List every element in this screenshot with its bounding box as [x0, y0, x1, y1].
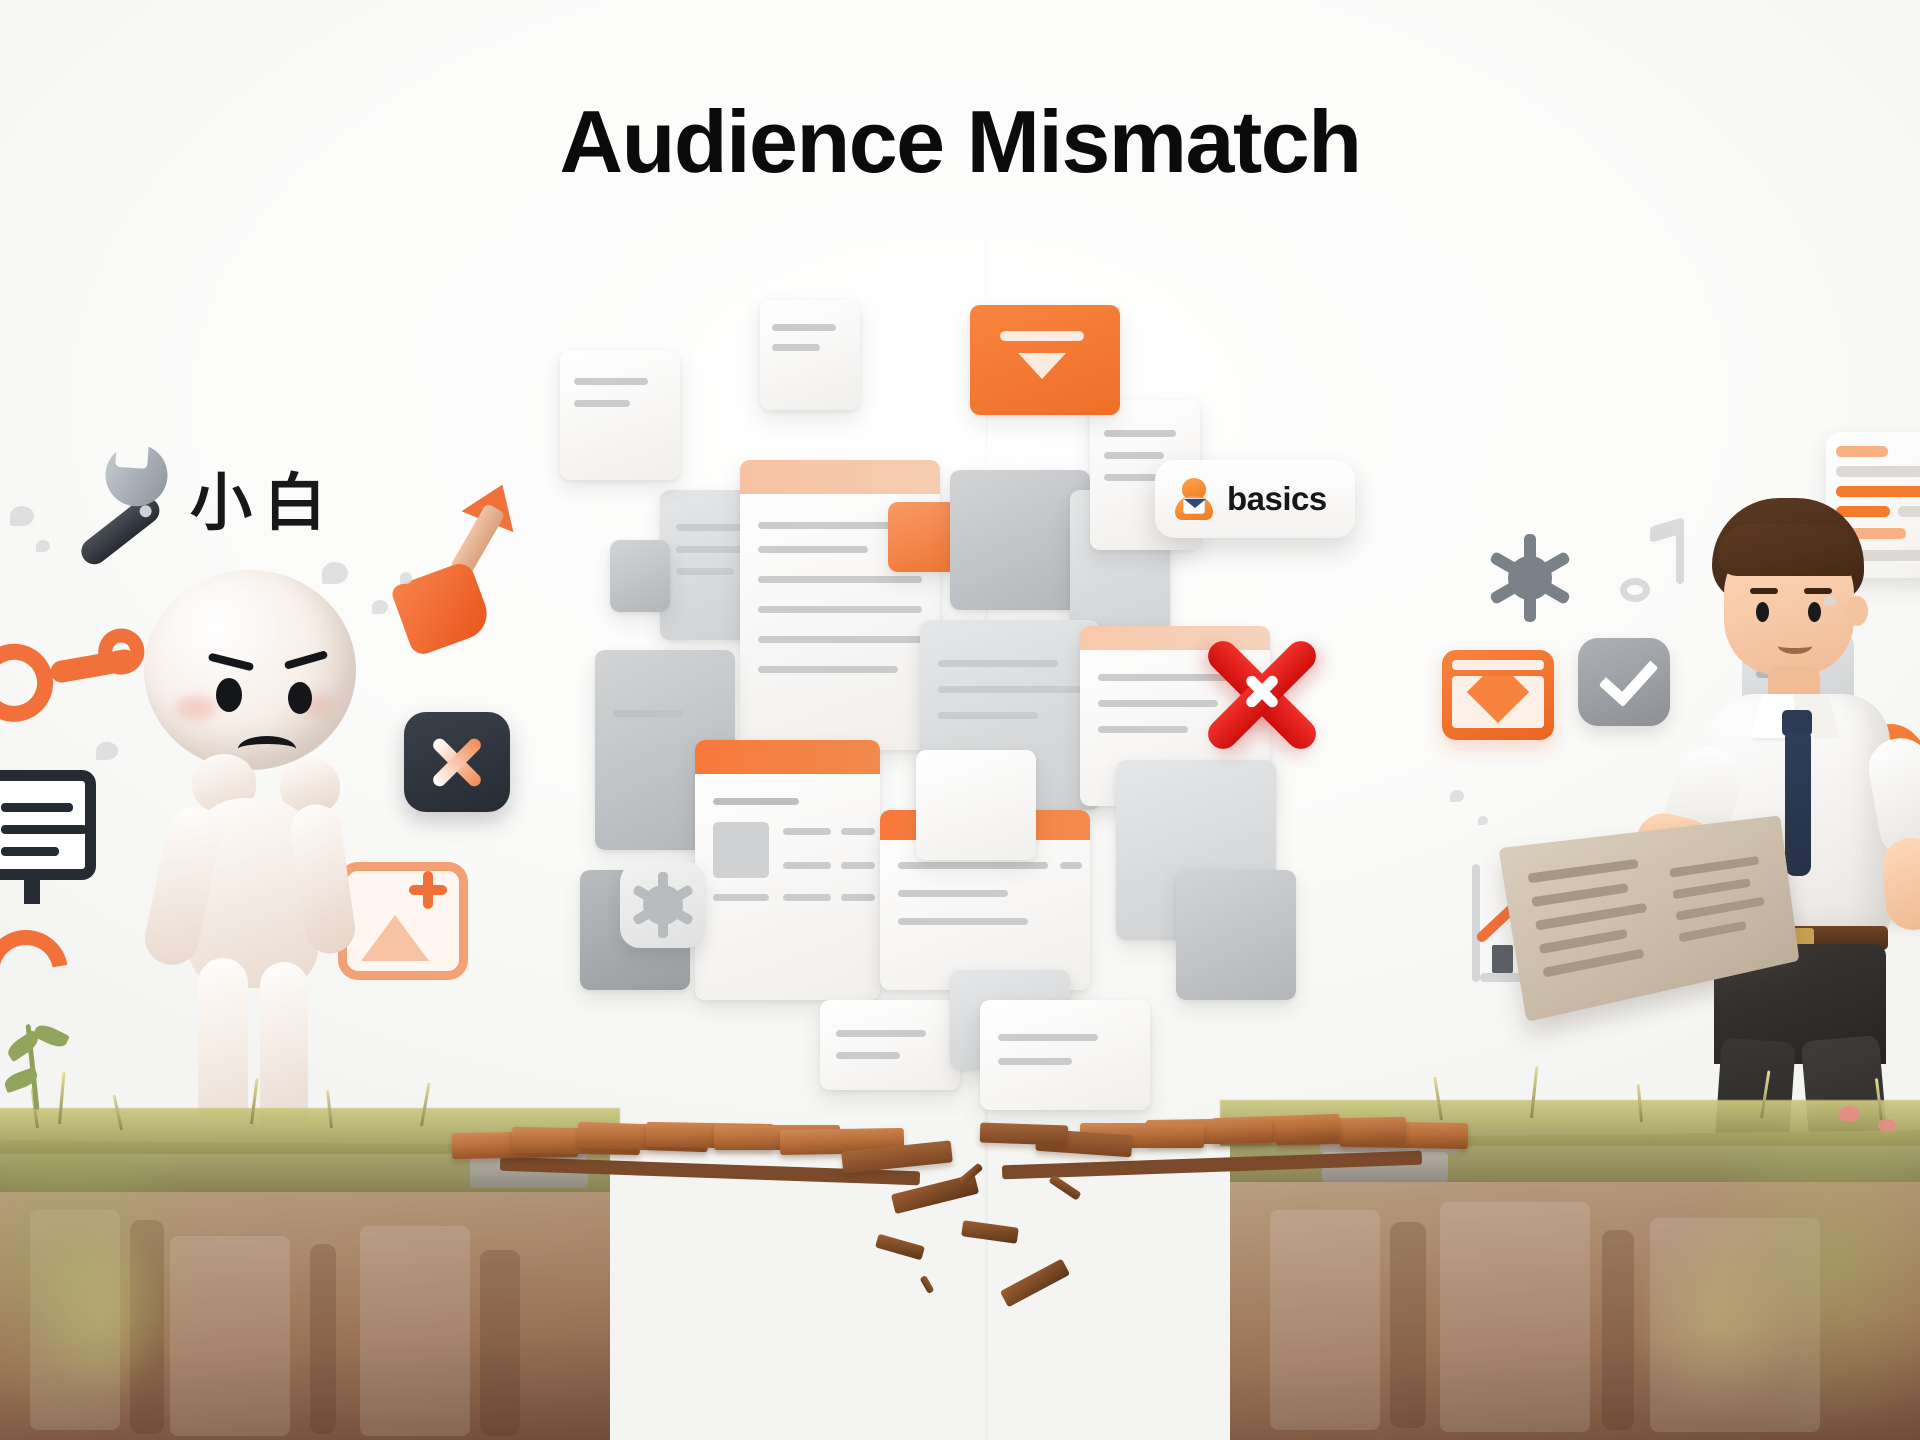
user-avatar-icon	[1173, 478, 1215, 520]
card	[695, 740, 880, 1000]
card	[888, 502, 958, 572]
decor-blob	[1450, 790, 1464, 802]
decor-blob	[36, 540, 50, 552]
card	[560, 350, 680, 480]
gear-icon	[1484, 532, 1576, 624]
poster-canvas: Audience Mismatch 小白	[0, 0, 1920, 1440]
decor-blob	[10, 506, 34, 526]
red-x-icon	[1198, 628, 1326, 756]
foreground-foliage	[30, 1220, 170, 1400]
gear-icon	[620, 862, 706, 948]
close-x-chip-icon	[404, 712, 510, 812]
bridge-fragment	[875, 1234, 925, 1261]
decor-blob	[1478, 816, 1488, 825]
mail-icon	[1442, 650, 1554, 740]
page-title: Audience Mismatch	[0, 96, 1920, 188]
bridge-fragment	[961, 1220, 1019, 1244]
card	[950, 470, 1090, 610]
basics-badge-label: basics	[1227, 480, 1327, 518]
card	[610, 540, 670, 612]
novice-label: 小白	[190, 452, 338, 542]
basics-badge[interactable]: basics	[1155, 460, 1355, 538]
bridge-fragment	[1048, 1174, 1081, 1200]
bridge-plank-broken	[980, 1122, 1069, 1145]
card	[970, 305, 1120, 415]
decor-blob	[1824, 596, 1836, 606]
monitor-icon	[0, 770, 96, 880]
scene-terrain	[0, 980, 1920, 1440]
card	[760, 300, 860, 410]
card	[916, 750, 1036, 860]
foreground-foliage	[1630, 1220, 1800, 1420]
plant-leaf	[32, 1021, 70, 1050]
bridge-fragment	[919, 1275, 934, 1294]
bridge-fragment	[1000, 1259, 1070, 1308]
